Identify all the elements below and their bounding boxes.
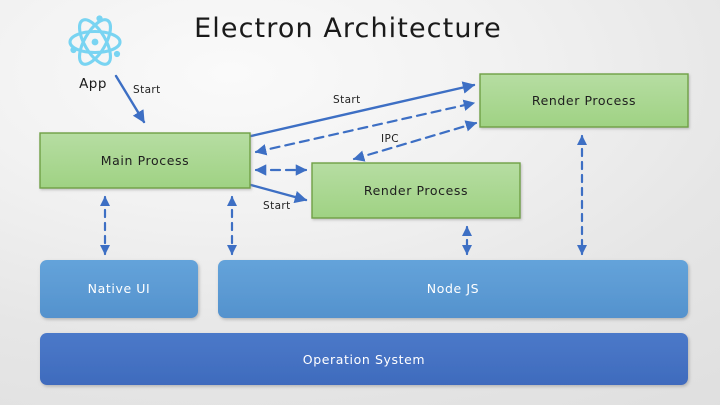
render-process-1-label: Render Process xyxy=(532,93,636,108)
render-process-2-label: Render Process xyxy=(364,183,468,198)
connection-app-to-main xyxy=(116,76,144,122)
node-render-process-1[interactable]: Render Process xyxy=(480,74,688,127)
operation-system-label: Operation System xyxy=(303,352,425,367)
electron-atom-logo xyxy=(70,15,120,69)
app-logo-caption: App xyxy=(79,76,107,92)
slide-canvas: Electron Architecture App xyxy=(0,0,720,405)
edge-label-start-bottom: Start xyxy=(263,200,291,212)
connection-main-to-render2-start xyxy=(251,185,306,200)
edge-label-ipc: IPC xyxy=(381,133,399,145)
edge-label-start-app: Start xyxy=(133,84,161,96)
node-node-js[interactable]: Node JS xyxy=(218,260,688,318)
edge-label-start-top: Start xyxy=(333,94,361,106)
node-render-process-2[interactable]: Render Process xyxy=(312,163,520,218)
node-js-label: Node JS xyxy=(427,281,479,296)
connection-render2-to-render1-ipc xyxy=(354,123,476,159)
native-ui-label: Native UI xyxy=(88,281,151,296)
node-operation-system[interactable]: Operation System xyxy=(40,333,688,385)
page-title: Electron Architecture xyxy=(194,13,502,44)
node-native-ui[interactable]: Native UI xyxy=(40,260,198,318)
node-main-process[interactable]: Main Process xyxy=(40,133,250,188)
architecture-diagram: Electron Architecture App xyxy=(0,0,720,405)
main-process-label: Main Process xyxy=(101,153,189,168)
